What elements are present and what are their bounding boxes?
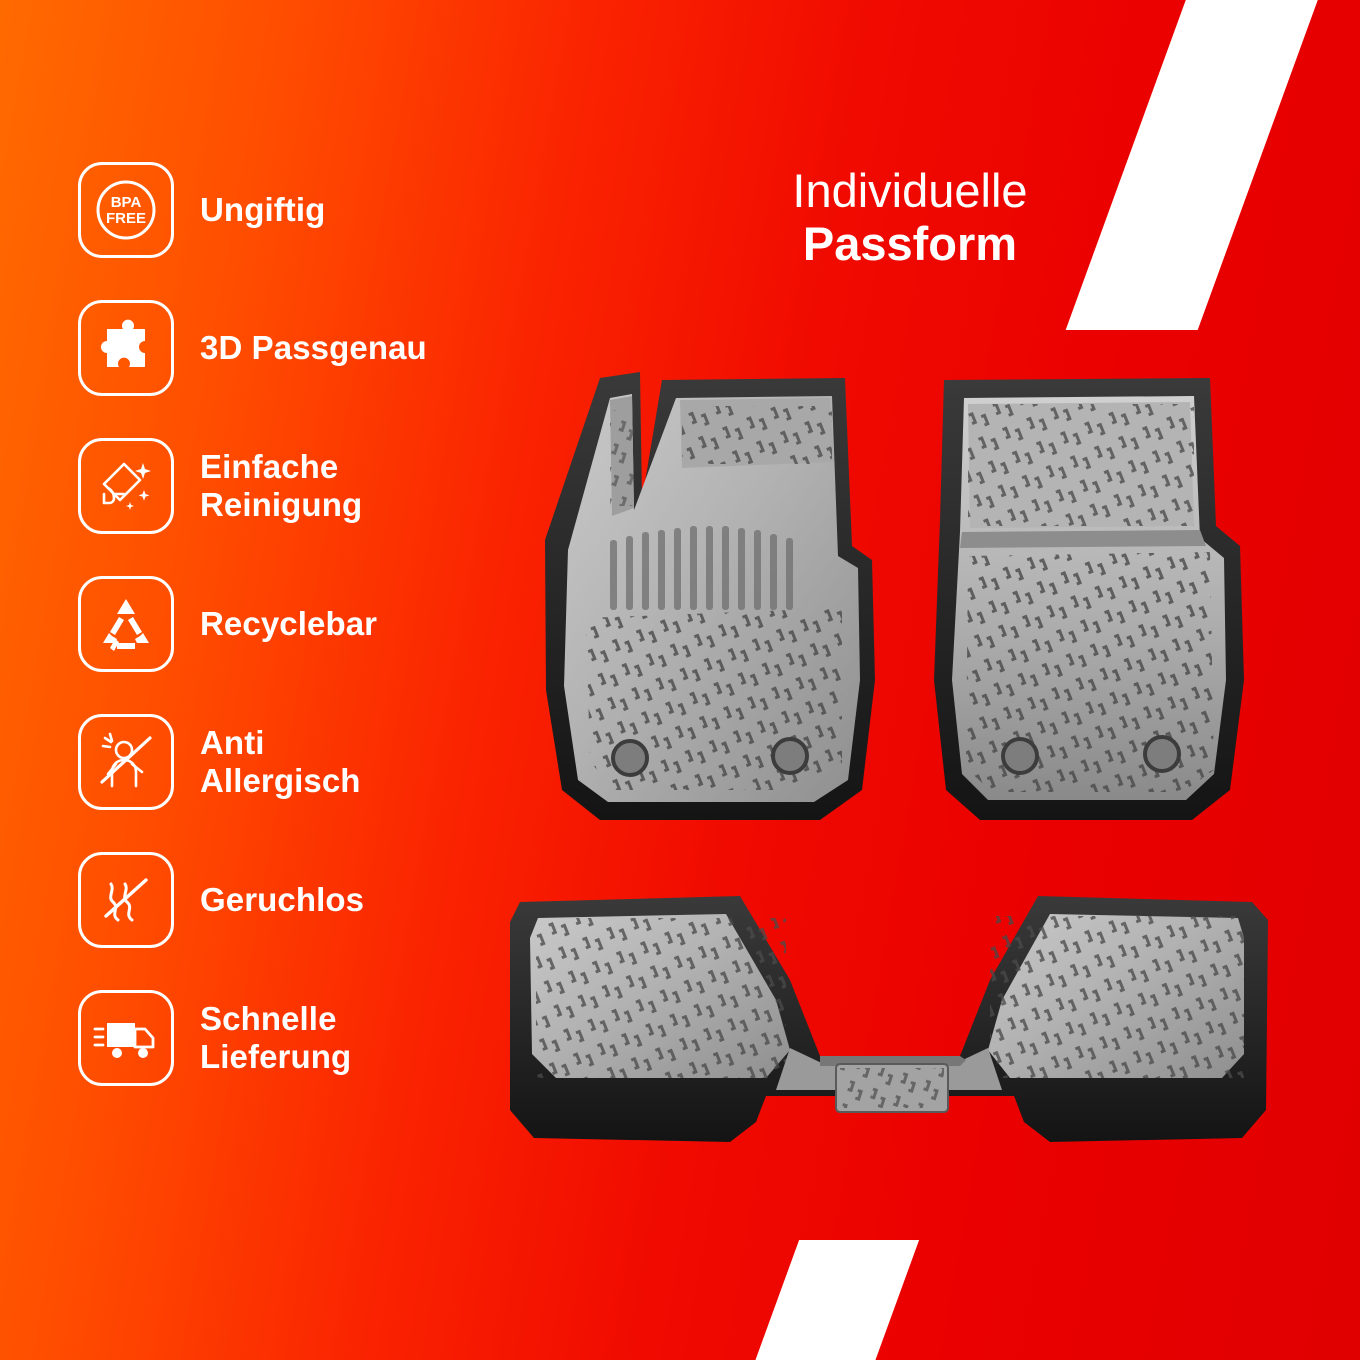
delivery-truck-icon xyxy=(78,990,174,1086)
front-right-mat xyxy=(934,378,1244,820)
feature-item-einfache-reinigung: Einfache Reinigung xyxy=(78,431,538,541)
feature-item-ungiftig: BPA FREE Ungiftig xyxy=(78,155,538,265)
poster: Individuelle Passform BPA FREE Ungiftig … xyxy=(0,0,1360,1360)
no-smell-icon xyxy=(78,852,174,948)
recycle-icon xyxy=(78,576,174,672)
feature-label-geruchlos: Geruchlos xyxy=(200,881,364,919)
bpa-free-icon: BPA FREE xyxy=(78,162,174,258)
svg-text:FREE: FREE xyxy=(106,210,146,227)
page-title: Individuelle Passform xyxy=(640,165,1180,270)
feature-label-recyclebar: Recyclebar xyxy=(200,605,377,643)
feature-label-schnelle-lieferung: Schnelle Lieferung xyxy=(200,1000,351,1076)
feature-item-anti-allergisch: Anti Allergisch xyxy=(78,707,538,817)
feature-label-3d-passgenau: 3D Passgenau xyxy=(200,329,427,367)
feature-label-ungiftig: Ungiftig xyxy=(200,191,325,229)
front-left-mat xyxy=(545,372,875,820)
feature-label-einfache-reinigung: Einfache Reinigung xyxy=(200,448,362,524)
feature-item-geruchlos: Geruchlos xyxy=(78,845,538,955)
cleaning-hand-icon xyxy=(78,438,174,534)
svg-text:BPA: BPA xyxy=(111,194,142,211)
feature-item-recyclebar: Recyclebar xyxy=(78,569,538,679)
anti-allergy-icon xyxy=(78,714,174,810)
car-floor-mat-set xyxy=(490,350,1290,1180)
feature-item-schnelle-lieferung: Schnelle Lieferung xyxy=(78,983,538,1093)
rear-mat xyxy=(510,896,1268,1142)
headline-line-2: Passform xyxy=(640,218,1180,271)
decorative-stripe-bottom xyxy=(741,1240,919,1360)
feature-list: BPA FREE Ungiftig 3D Passgenau xyxy=(78,155,538,1093)
headline-line-1: Individuelle xyxy=(640,165,1180,218)
puzzle-piece-icon xyxy=(78,300,174,396)
feature-item-3d-passgenau: 3D Passgenau xyxy=(78,293,538,403)
feature-label-anti-allergisch: Anti Allergisch xyxy=(200,724,361,800)
